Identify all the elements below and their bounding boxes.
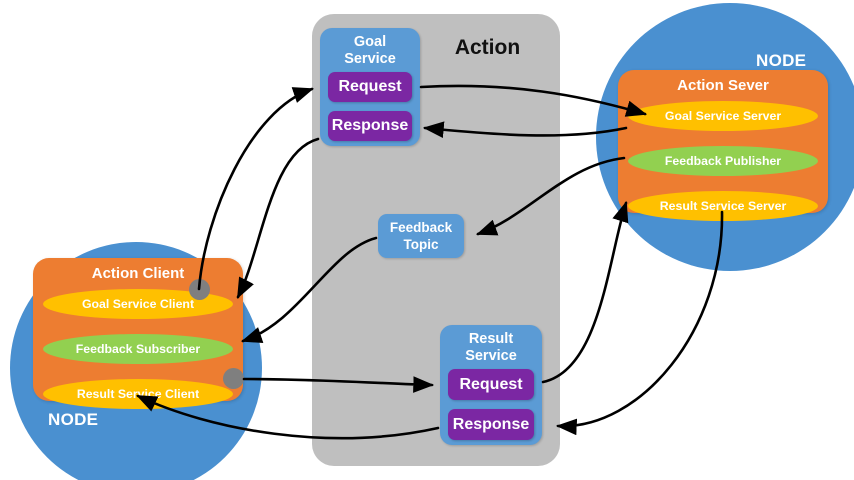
goal-service-response-pill[interactable]: Response [328, 111, 412, 141]
result-connector-dot [223, 368, 244, 389]
action-client-box: Action Client Goal Service Client Feedba… [33, 258, 243, 401]
goal-connector-dot [189, 279, 210, 300]
action-panel-title: Action [430, 36, 545, 60]
result-service-client-ellipse[interactable]: Result Service Client [43, 379, 233, 409]
goal-service-title: Goal Service [320, 34, 420, 68]
goal-service-title-line1: Goal [354, 34, 386, 50]
result-service-response-pill[interactable]: Response [448, 409, 534, 440]
result-service-title: Result Service [440, 331, 542, 365]
action-client-title: Action Client [33, 265, 243, 282]
feedback-publisher-ellipse[interactable]: Feedback Publisher [628, 146, 818, 176]
action-server-title: Action Sever [618, 77, 828, 94]
goal-service-server-ellipse[interactable]: Goal Service Server [628, 101, 818, 131]
diagram-canvas: Action NODE NODE Action Client Goal Serv… [0, 0, 854, 480]
feedback-topic-box[interactable]: Feedback Topic [378, 214, 464, 258]
result-service-title-line2: Service [465, 348, 517, 364]
result-service-title-line1: Result [469, 331, 513, 347]
result-service-box: Result Service Request Response [440, 325, 542, 445]
node-label-server: NODE [756, 51, 806, 71]
result-service-request-pill[interactable]: Request [448, 369, 534, 400]
goal-service-box: Goal Service Request Response [320, 28, 420, 146]
action-server-box: Action Sever Goal Service Server Feedbac… [618, 70, 828, 213]
feedback-topic-line2: Topic [404, 236, 439, 253]
goal-service-title-line2: Service [344, 51, 396, 67]
goal-service-request-pill[interactable]: Request [328, 72, 412, 102]
node-label-client: NODE [48, 410, 98, 430]
feedback-subscriber-ellipse[interactable]: Feedback Subscriber [43, 334, 233, 364]
arrow-goal-response-to-client [238, 139, 318, 297]
result-service-server-ellipse[interactable]: Result Service Server [628, 191, 818, 221]
feedback-topic-line1: Feedback [390, 219, 452, 236]
